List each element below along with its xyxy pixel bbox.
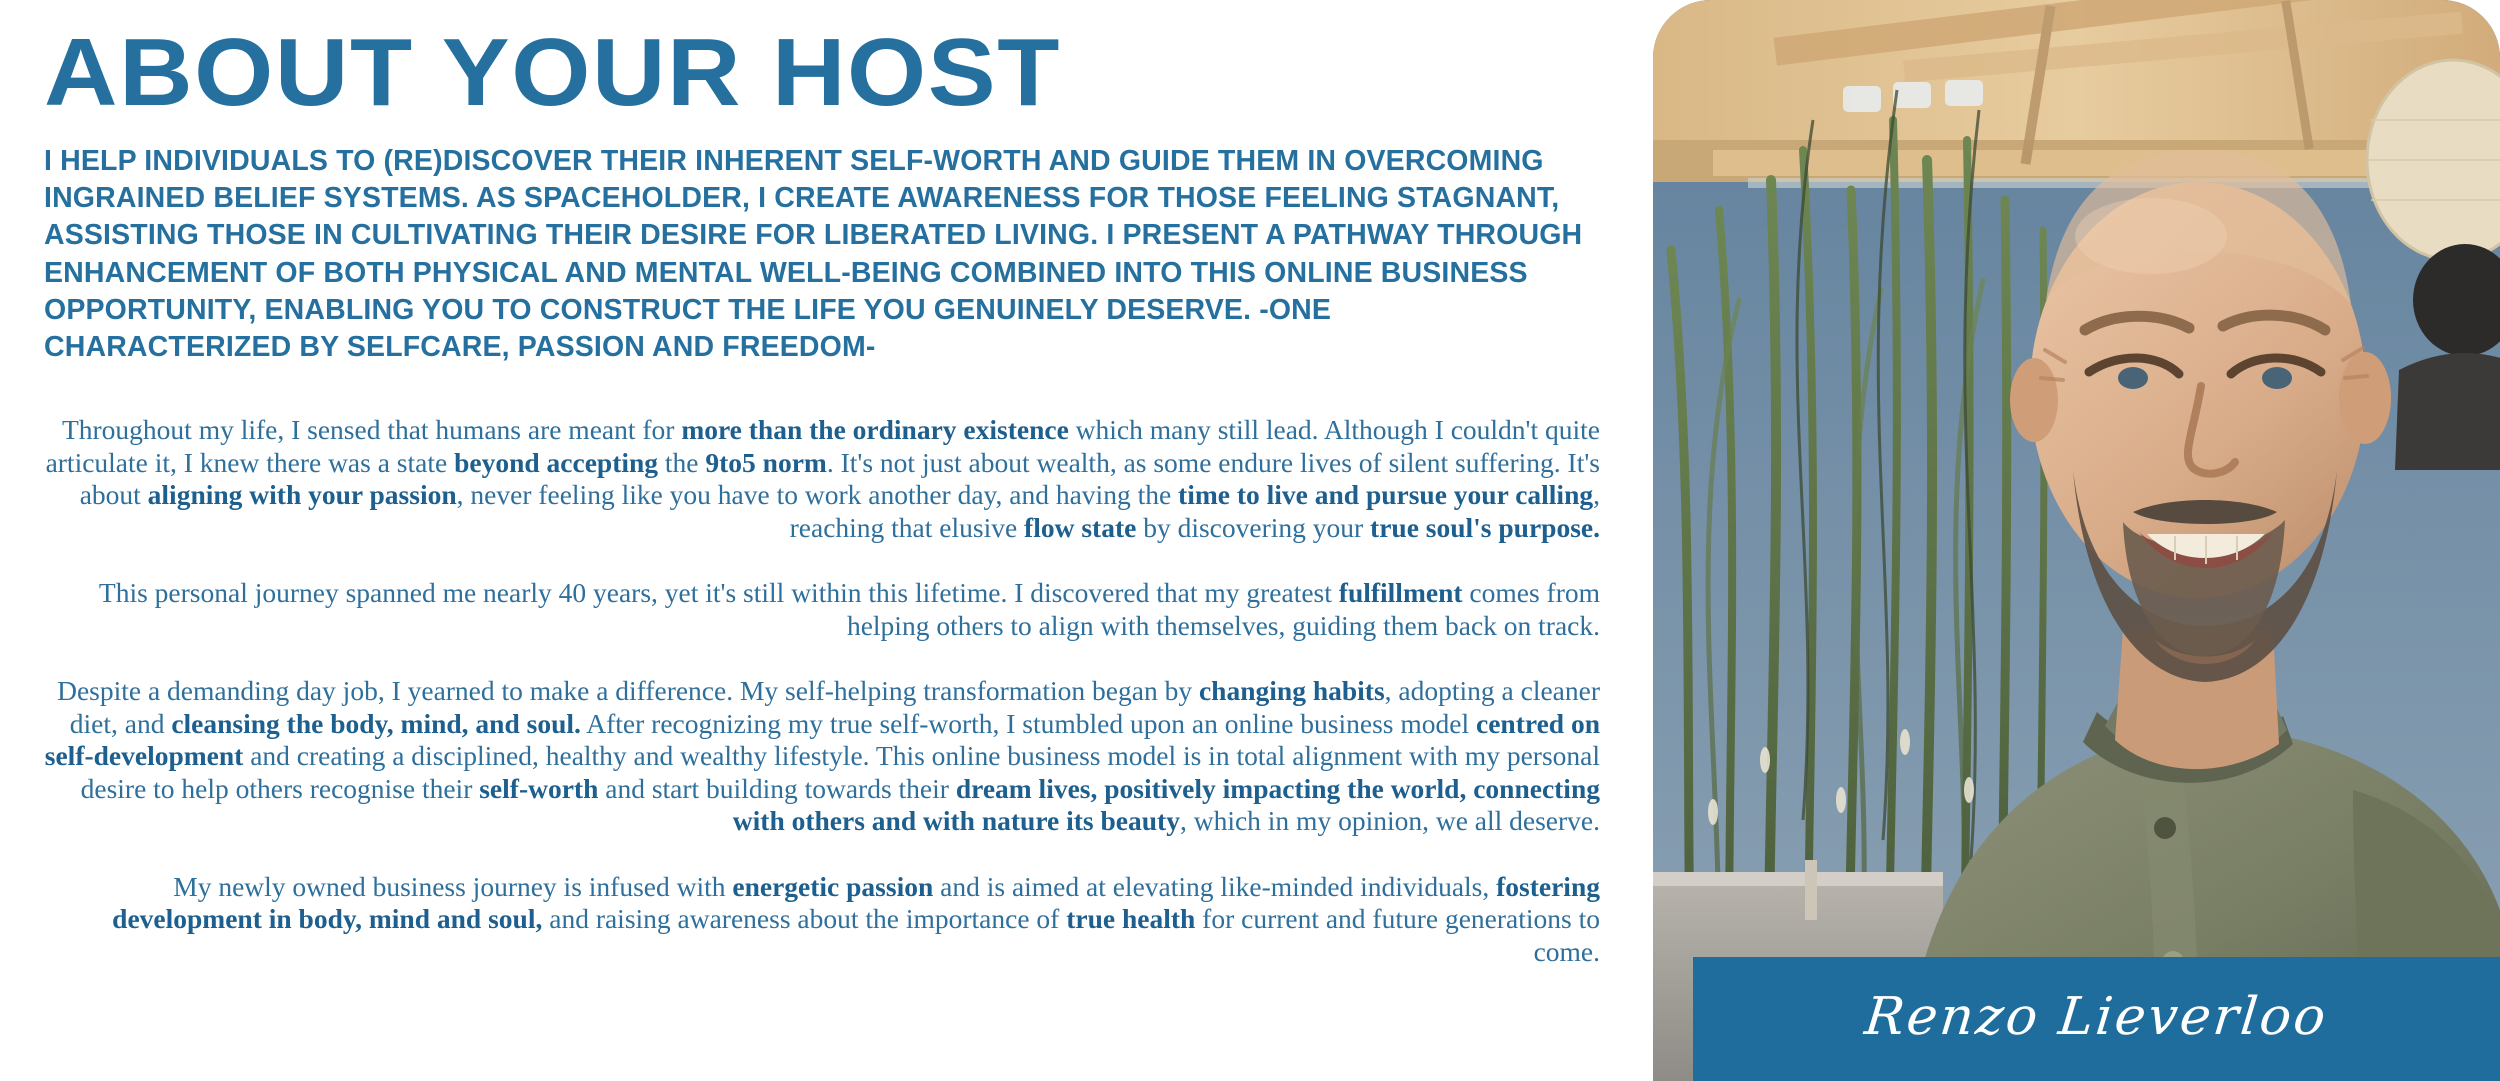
paragraph-4: My newly owned business journey is infus… bbox=[40, 871, 1600, 969]
paragraph-3: Despite a demanding day job, I yearned t… bbox=[40, 675, 1600, 838]
host-portrait-illustration bbox=[1653, 0, 2500, 1081]
paragraph-2: This personal journey spanned me nearly … bbox=[40, 577, 1600, 642]
page-title: ABOUT YOUR HOST bbox=[44, 25, 1061, 121]
subtitle-statement: I HELP INDIVIDUALS TO (RE)DISCOVER THEIR… bbox=[44, 143, 1584, 366]
paragraph-1: Throughout my life, I sensed that humans… bbox=[40, 414, 1600, 544]
host-portrait-photo bbox=[1653, 0, 2500, 1081]
host-name: Renzo Lieverloo bbox=[1863, 991, 2331, 1043]
host-name-banner: Renzo Lieverloo bbox=[1693, 957, 2500, 1081]
text-column: ABOUT YOUR HOST I HELP INDIVIDUALS TO (R… bbox=[0, 0, 1620, 1081]
body-copy: Throughout my life, I sensed that humans… bbox=[40, 414, 1600, 968]
about-your-host-slide: ABOUT YOUR HOST I HELP INDIVIDUALS TO (R… bbox=[0, 0, 2500, 1081]
